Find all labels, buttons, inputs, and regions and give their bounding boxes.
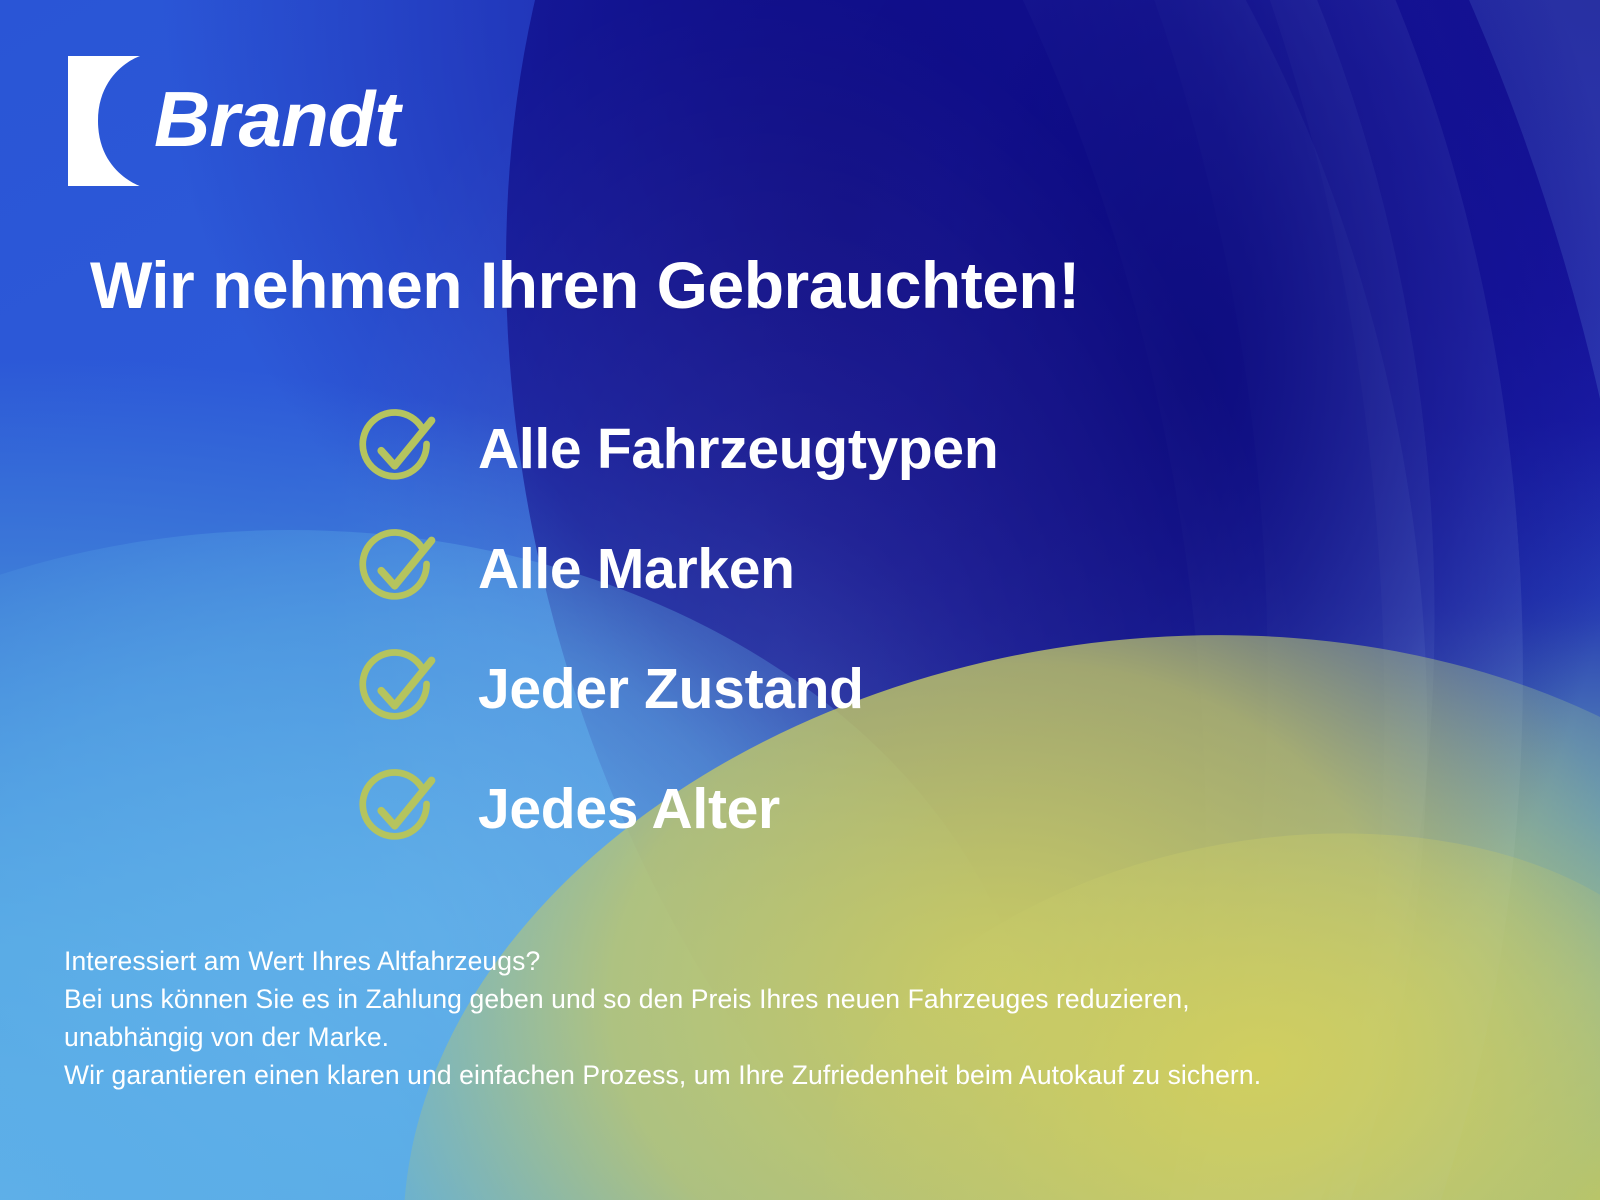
bracket-crescent-icon [68, 56, 140, 186]
feature-item: Jedes Alter [356, 760, 998, 858]
headline: Wir nehmen Ihren Gebrauchten! [90, 247, 1080, 323]
feature-label: Alle Fahrzeugtypen [478, 416, 998, 482]
feature-label: Jedes Alter [478, 776, 780, 842]
circle-check-icon [356, 767, 440, 851]
promo-poster: Brandt Wir nehmen Ihren Gebrauchten! All… [0, 0, 1600, 1200]
footer-line: unabhängig von der Marke. [64, 1018, 1261, 1056]
circle-check-icon [356, 647, 440, 731]
feature-label: Jeder Zustand [478, 656, 864, 722]
feature-item: Alle Fahrzeugtypen [356, 400, 998, 498]
footer-paragraph: Interessiert am Wert Ihres Altfahrzeugs?… [64, 942, 1261, 1094]
feature-item: Alle Marken [356, 520, 998, 618]
feature-list: Alle Fahrzeugtypen Alle Marken Jeder Zus… [356, 400, 998, 858]
footer-line: Bei uns können Sie es in Zahlung geben u… [64, 980, 1261, 1018]
feature-item: Jeder Zustand [356, 640, 998, 738]
poster-content: Brandt Wir nehmen Ihren Gebrauchten! All… [0, 0, 1600, 1200]
brand-logo: Brandt [68, 56, 399, 186]
footer-line: Interessiert am Wert Ihres Altfahrzeugs? [64, 942, 1261, 980]
footer-line: Wir garantieren einen klaren und einfach… [64, 1056, 1261, 1094]
feature-label: Alle Marken [478, 536, 795, 602]
circle-check-icon [356, 407, 440, 491]
circle-check-icon [356, 527, 440, 611]
brand-name: Brandt [154, 80, 399, 158]
